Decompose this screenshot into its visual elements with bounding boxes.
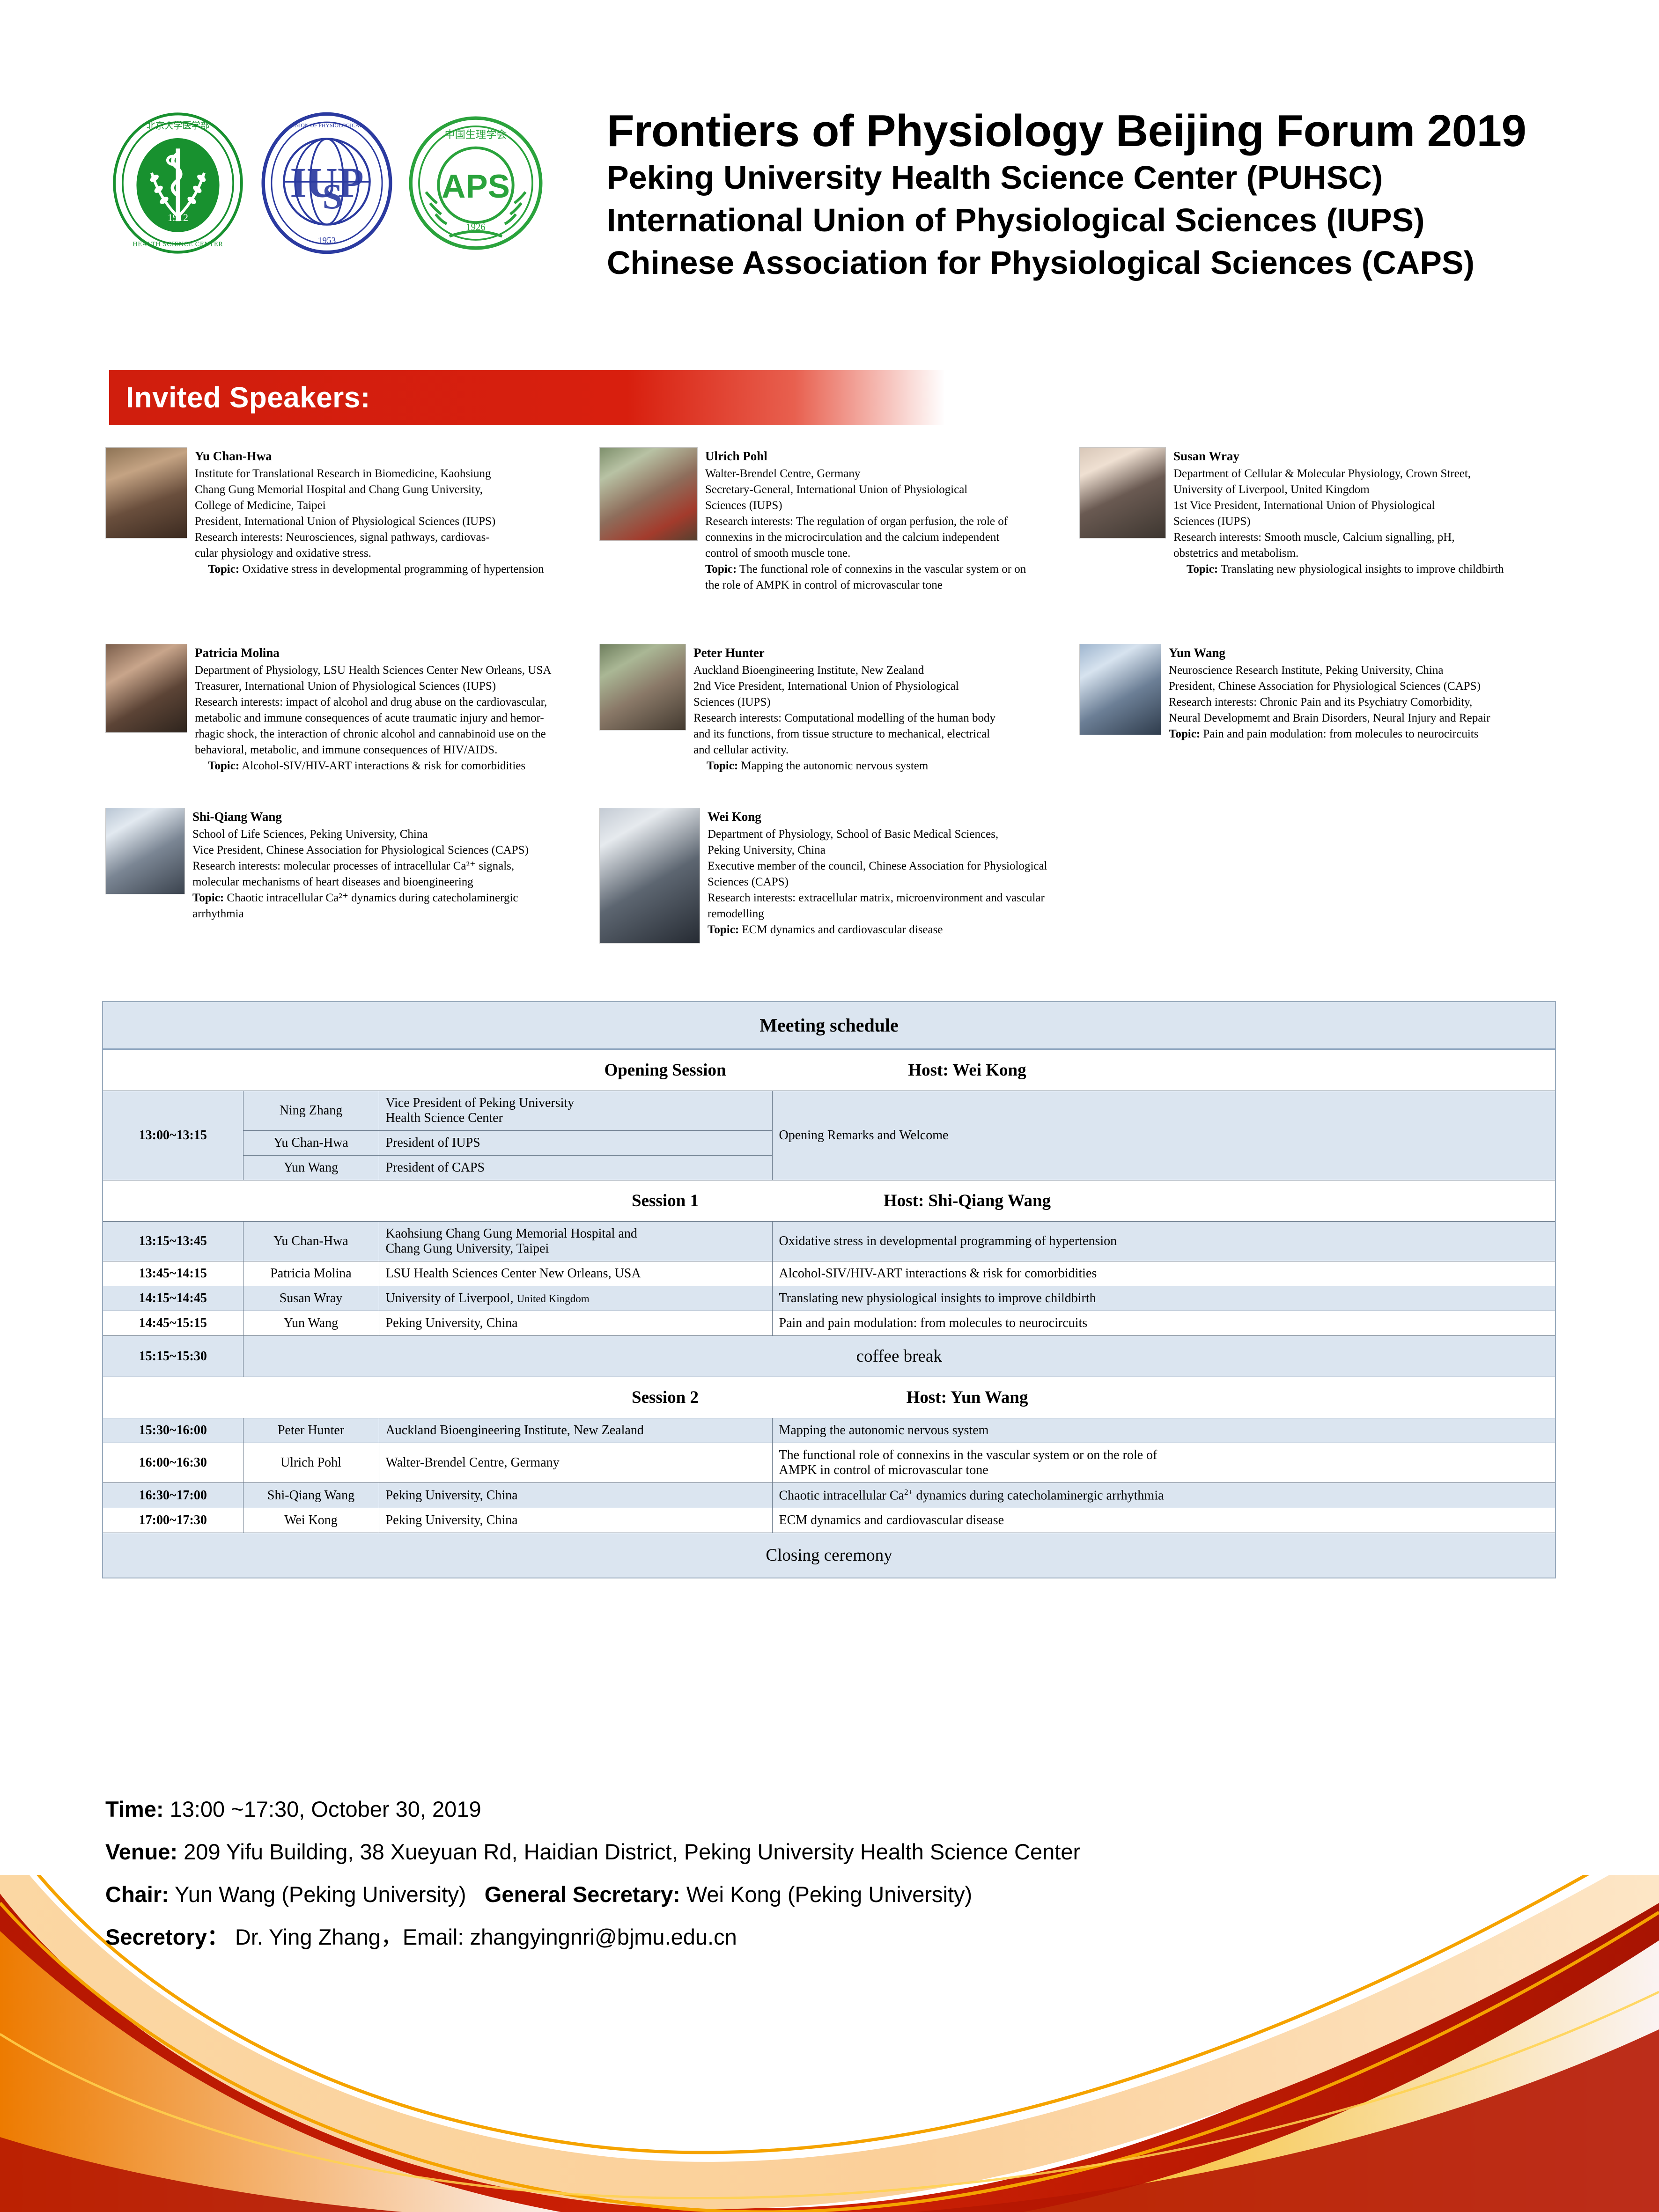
- table-row: 13:00~13:15 Ning Zhang Vice President of…: [103, 1091, 1556, 1131]
- table-row-closing: Closing ceremony: [103, 1533, 1556, 1578]
- speaker-grid: Yu Chan-Hwa Institute for Translational …: [105, 447, 1557, 962]
- cell-speaker: Yun Wang: [243, 1156, 379, 1180]
- cell-remark: Opening Remarks and Welcome: [772, 1091, 1556, 1180]
- speaker-interests-line: connexins in the microcirculation and th…: [705, 530, 1026, 546]
- speaker-role-line: Sciences (IUPS): [693, 694, 995, 710]
- speaker-card-susan-wray: Susan Wray Department of Cellular & Mole…: [1079, 447, 1557, 644]
- cell-topic: Chaotic intracellular Ca2+ dynamics duri…: [772, 1483, 1556, 1508]
- speaker-row: Shi-Qiang Wang School of Life Sciences, …: [105, 808, 1557, 962]
- schedule-title: Meeting schedule: [103, 1002, 1556, 1049]
- speaker-interests-line: Research interests: impact of alcohol an…: [195, 694, 551, 710]
- topic-text: The functional role of connexins in the …: [739, 563, 1026, 575]
- table-row-title: Meeting schedule: [103, 1002, 1556, 1049]
- topic-pre: Chaotic intracellular Ca: [779, 1488, 904, 1503]
- speaker-affiliation-line: Department of Physiology, LSU Health Sci…: [195, 663, 551, 678]
- caps-logo: APS 1926 中国生理学会: [406, 111, 546, 256]
- topic-label: Topic:: [208, 759, 239, 772]
- table-row-session-header: Session 1 Host: Shi-Qiang Wang: [103, 1180, 1556, 1222]
- topic-text: ECM dynamics and cardiovascular disease: [742, 923, 943, 936]
- general-secretary-label: General Secretary:: [485, 1882, 680, 1907]
- svg-text:中国生理学会: 中国生理学会: [445, 129, 507, 141]
- avatar: [105, 644, 187, 733]
- table-row: 16:30~17:00 Shi-Qiang Wang Peking Univer…: [103, 1483, 1556, 1508]
- speaker-role-line: President, International Union of Physio…: [195, 514, 544, 530]
- cell-time: 13:00~13:15: [103, 1091, 243, 1180]
- svg-text:HEALTH SCIENCE CENTER: HEALTH SCIENCE CENTER: [133, 241, 223, 248]
- iups-logo: IUP S 1953 UNION OF PHYSIOLOGICAL: [257, 111, 397, 256]
- speaker-interests-line: cular physiology and oxidative stress.: [195, 546, 544, 561]
- svg-text:1953: 1953: [318, 236, 336, 245]
- cell-topic: Mapping the autonomic nervous system: [772, 1418, 1556, 1443]
- svg-text:UNION OF PHYSIOLOGICAL: UNION OF PHYSIOLOGICAL: [291, 122, 362, 128]
- speaker-affiliation-line: University of Liverpool, United Kingdom: [1173, 482, 1504, 498]
- avatar: [105, 808, 185, 894]
- closing-ceremony-label: Closing ceremony: [103, 1533, 1556, 1578]
- table-row: 17:00~17:30 Wei Kong Peking University, …: [103, 1508, 1556, 1533]
- speaker-role-line: President, Chinese Association for Physi…: [1169, 678, 1490, 694]
- speaker-name: Yun Wang: [1169, 645, 1490, 662]
- coffee-break-label: coffee break: [243, 1336, 1556, 1377]
- topic-text: Chaotic intracellular Ca²⁺ dynamics duri…: [227, 892, 518, 904]
- role-line-1: Vice President of Peking University: [386, 1096, 766, 1111]
- session-host-opening: Host: Wei Kong: [804, 1060, 1131, 1080]
- topic-line-1: The functional role of connexins in the …: [779, 1448, 1549, 1463]
- speaker-interests-line: rhagic shock, the interaction of chronic…: [195, 726, 551, 742]
- topic-post: dynamics during catecholaminergic arrhyt…: [913, 1488, 1164, 1503]
- speaker-affiliation-line: School of Life Sciences, Peking Universi…: [192, 826, 529, 842]
- logo-group: 1912 HEALTH SCIENCE CENTER 北京大学医学部 IUP S…: [108, 111, 546, 256]
- topic-text: Mapping the autonomic nervous system: [741, 759, 928, 772]
- cell-time: 16:00~16:30: [103, 1443, 243, 1483]
- cell-time: 13:45~14:15: [103, 1261, 243, 1286]
- speaker-interests-line: control of smooth muscle tone.: [705, 546, 1026, 561]
- speaker-role-line: Executive member of the council, Chinese…: [708, 858, 1047, 874]
- speaker-card-ulrich-pohl: Ulrich Pohl Walter-Brendel Centre, Germa…: [599, 447, 1079, 644]
- role-line-2: Health Science Center: [386, 1111, 766, 1126]
- svg-text:S: S: [322, 177, 342, 217]
- secretory-label: Secretory：: [105, 1924, 229, 1949]
- chair-label: Chair:: [105, 1882, 169, 1907]
- topic-label: Topic:: [1169, 728, 1200, 740]
- cell-time: 15:30~16:00: [103, 1418, 243, 1443]
- cell-affiliation: Auckland Bioengineering Institute, New Z…: [379, 1418, 772, 1443]
- speaker-name: Wei Kong: [708, 809, 1047, 826]
- speaker-interests-line: Research interests: Smooth muscle, Calci…: [1173, 530, 1504, 546]
- svg-text:APS: APS: [442, 168, 510, 205]
- meeting-schedule-table: Meeting schedule Opening Session Host: W…: [102, 1001, 1556, 1578]
- avatar: [599, 644, 686, 730]
- cell-role: President of IUPS: [379, 1131, 772, 1156]
- cell-time: 17:00~17:30: [103, 1508, 243, 1533]
- speaker-row: Yu Chan-Hwa Institute for Translational …: [105, 447, 1557, 644]
- table-row: 15:30~16:00 Peter Hunter Auckland Bioeng…: [103, 1418, 1556, 1443]
- page-title: Frontiers of Physiology Beijing Forum 20…: [607, 106, 1526, 156]
- topic-label: Topic:: [708, 923, 739, 936]
- speaker-affiliation-line: Peking University, China: [708, 842, 1047, 858]
- topic-label: Topic:: [192, 892, 224, 904]
- speaker-affiliation-line: Neuroscience Research Institute, Peking …: [1169, 663, 1490, 678]
- footer-venue: Venue: 209 Yifu Building, 38 Xueyuan Rd,…: [105, 1841, 1557, 1863]
- topic-text-cont: arrhythmia: [192, 906, 529, 922]
- speaker-affiliation-line: College of Medicine, Taipei: [195, 498, 544, 514]
- topic-text: Pain and pain modulation: from molecules…: [1203, 728, 1478, 740]
- speaker-card-wei-kong: Wei Kong Department of Physiology, Schoo…: [599, 808, 1079, 962]
- avatar: [599, 447, 698, 541]
- table-row: 16:00~16:30 Ulrich Pohl Walter-Brendel C…: [103, 1443, 1556, 1483]
- speaker-name: Shi-Qiang Wang: [192, 809, 529, 826]
- session-label-opening: Opening Session: [527, 1060, 804, 1080]
- header-subtitle-caps: Chinese Association for Physiological Sc…: [607, 242, 1526, 284]
- speaker-interests-line: Research interests: Computational modell…: [693, 710, 995, 726]
- speaker-name: Ulrich Pohl: [705, 448, 1026, 465]
- avatar: [599, 808, 700, 944]
- cell-affiliation: Peking University, China: [379, 1508, 772, 1533]
- speaker-affiliation-line: Chang Gung Memorial Hospital and Chang G…: [195, 482, 544, 498]
- table-row: 13:15~13:45 Yu Chan-Hwa Kaohsiung Chang …: [103, 1222, 1556, 1261]
- puhsc-logo: 1912 HEALTH SCIENCE CENTER 北京大学医学部: [108, 111, 248, 256]
- invited-speakers-label: Invited Speakers:: [126, 381, 370, 414]
- table-row: 14:45~15:15 Yun Wang Peking University, …: [103, 1311, 1556, 1336]
- affil-line-1: Kaohsiung Chang Gung Memorial Hospital a…: [386, 1226, 766, 1241]
- cell-topic: ECM dynamics and cardiovascular disease: [772, 1508, 1556, 1533]
- speaker-interests-line: Research interests: The regulation of or…: [705, 514, 1026, 530]
- affil-sub: United Kingdom: [516, 1293, 589, 1305]
- session-host-2: Host: Yun Wang: [804, 1387, 1131, 1408]
- time-label: Time:: [105, 1797, 164, 1821]
- secretory-value: Dr. Ying Zhang，Email: zhangyingnri@bjmu.…: [229, 1924, 737, 1949]
- cell-affiliation: Walter-Brendel Centre, Germany: [379, 1443, 772, 1483]
- cell-affiliation: Peking University, China: [379, 1483, 772, 1508]
- table-row-session-header: Opening Session Host: Wei Kong: [103, 1049, 1556, 1091]
- cell-speaker: Shi-Qiang Wang: [243, 1483, 379, 1508]
- svg-text:1912: 1912: [168, 212, 188, 223]
- avatar: [105, 447, 187, 538]
- cell-speaker: Yu Chan-Hwa: [243, 1131, 379, 1156]
- invited-speakers-banner: Invited Speakers:: [109, 370, 945, 425]
- venue-label: Venue:: [105, 1839, 177, 1864]
- speaker-role-line: Treasurer, International Union of Physio…: [195, 678, 551, 694]
- footer-time: Time: 13:00 ~17:30, October 30, 2019: [105, 1798, 1557, 1820]
- avatar: [1079, 447, 1166, 538]
- speaker-affiliation-line: Institute for Translational Research in …: [195, 466, 544, 482]
- svg-text:北京大学医学部: 北京大学医学部: [147, 120, 209, 131]
- topic-text: Translating new physiological insights t…: [1221, 563, 1504, 575]
- speaker-interests-line: obstetrics and metabolism.: [1173, 546, 1504, 561]
- speaker-row: Patricia Molina Department of Physiology…: [105, 644, 1557, 808]
- footer-chair: Chair: Yun Wang (Peking University) Gene…: [105, 1883, 1557, 1905]
- table-row: 14:15~14:45 Susan Wray University of Liv…: [103, 1286, 1556, 1311]
- speaker-role-line: 2nd Vice President, International Union …: [693, 678, 995, 694]
- cell-topic: Translating new physiological insights t…: [772, 1286, 1556, 1311]
- header-subtitle-iups: International Union of Physiological Sci…: [607, 199, 1526, 242]
- cell-speaker: Peter Hunter: [243, 1418, 379, 1443]
- topic-label: Topic:: [1187, 563, 1218, 575]
- cell-speaker: Yun Wang: [243, 1311, 379, 1336]
- cell-affiliation: Kaohsiung Chang Gung Memorial Hospital a…: [379, 1222, 772, 1261]
- speaker-interests-line: molecular mechanisms of heart diseases a…: [192, 874, 529, 890]
- speaker-interests-line: Research interests: molecular processes …: [192, 858, 529, 874]
- cell-topic: The functional role of connexins in the …: [772, 1443, 1556, 1483]
- cell-affiliation: Peking University, China: [379, 1311, 772, 1336]
- cell-speaker: Ning Zhang: [243, 1091, 379, 1131]
- speaker-interests-line: metabolic and immune consequences of acu…: [195, 710, 551, 726]
- footer-info: Time: 13:00 ~17:30, October 30, 2019 Ven…: [105, 1798, 1557, 1969]
- speaker-affiliation-line: Walter-Brendel Centre, Germany: [705, 466, 1026, 482]
- speaker-role-line: Secretary-General, International Union o…: [705, 482, 1026, 498]
- cell-topic: Pain and pain modulation: from molecules…: [772, 1311, 1556, 1336]
- speaker-interests-line: Research interests: Neurosciences, signa…: [195, 530, 544, 546]
- cell-time: 16:30~17:00: [103, 1483, 243, 1508]
- topic-text: Alcohol-SIV/HIV-ART interactions & risk …: [242, 759, 525, 772]
- cell-topic: Alcohol-SIV/HIV-ART interactions & risk …: [772, 1261, 1556, 1286]
- chair-value: Yun Wang (Peking University): [169, 1882, 466, 1907]
- speaker-affiliation-line: Auckland Bioengineering Institute, New Z…: [693, 663, 995, 678]
- speaker-card-peter-hunter: Peter Hunter Auckland Bioengineering Ins…: [599, 644, 1079, 808]
- speaker-role-line: Sciences (CAPS): [708, 874, 1047, 890]
- speaker-card-yun-wang: Yun Wang Neuroscience Research Institute…: [1079, 644, 1557, 808]
- cell-affiliation: University of Liverpool, United Kingdom: [379, 1286, 772, 1311]
- topic-text: Oxidative stress in developmental progra…: [242, 563, 544, 575]
- cell-time: 14:45~15:15: [103, 1311, 243, 1336]
- speaker-card-patricia-molina: Patricia Molina Department of Physiology…: [105, 644, 599, 808]
- general-secretary-value: Wei Kong (Peking University): [680, 1882, 972, 1907]
- speaker-interests-line: remodelling: [708, 906, 1047, 922]
- speaker-role-line: Sciences (IUPS): [1173, 514, 1504, 530]
- speaker-card-yu-chan-hwa: Yu Chan-Hwa Institute for Translational …: [105, 447, 599, 644]
- table-row-session-header: Session 2 Host: Yun Wang: [103, 1377, 1556, 1418]
- cell-time: 14:15~14:45: [103, 1286, 243, 1311]
- speaker-name: Patricia Molina: [195, 645, 551, 662]
- footer-secretory: Secretory： Dr. Ying Zhang，Email: zhangyi…: [105, 1926, 1557, 1948]
- topic-line-2: AMPK in control of microvascular tone: [779, 1463, 1549, 1478]
- cell-topic: Oxidative stress in developmental progra…: [772, 1222, 1556, 1261]
- header-text-block: Frontiers of Physiology Beijing Forum 20…: [607, 106, 1526, 284]
- speaker-name: Susan Wray: [1173, 448, 1504, 465]
- cell-speaker: Susan Wray: [243, 1286, 379, 1311]
- speaker-role-line: Vice President, Chinese Association for …: [192, 842, 529, 858]
- cell-speaker: Ulrich Pohl: [243, 1443, 379, 1483]
- cell-role: President of CAPS: [379, 1156, 772, 1180]
- topic-label: Topic:: [705, 563, 737, 575]
- topic-label: Topic:: [707, 759, 738, 772]
- topic-text-cont: the role of AMPK in control of microvasc…: [705, 577, 1026, 593]
- speaker-interests-line: Neural Developmemt and Brain Disorders, …: [1169, 710, 1490, 726]
- avatar: [1079, 644, 1161, 735]
- speaker-affiliation-line: Department of Physiology, School of Basi…: [708, 826, 1047, 842]
- speaker-card-shi-qiang-wang: Shi-Qiang Wang School of Life Sciences, …: [105, 808, 599, 962]
- session-host-1: Host: Shi-Qiang Wang: [804, 1191, 1131, 1211]
- table-row: 13:45~14:15 Patricia Molina LSU Health S…: [103, 1261, 1556, 1286]
- table-row-coffee-break: 15:15~15:30 coffee break: [103, 1336, 1556, 1377]
- speaker-role-line: Sciences (IUPS): [705, 498, 1026, 514]
- cell-speaker: Yu Chan-Hwa: [243, 1222, 379, 1261]
- speaker-affiliation-line: Department of Cellular & Molecular Physi…: [1173, 466, 1504, 482]
- cell-time: 15:15~15:30: [103, 1336, 243, 1377]
- affil-main: University of Liverpool,: [386, 1291, 517, 1305]
- cell-speaker: Wei Kong: [243, 1508, 379, 1533]
- cell-speaker: Patricia Molina: [243, 1261, 379, 1286]
- cell-time: 13:15~13:45: [103, 1222, 243, 1261]
- cell-role: Vice President of Peking University Heal…: [379, 1091, 772, 1131]
- time-value: 13:00 ~17:30, October 30, 2019: [164, 1797, 481, 1821]
- affil-line-2: Chang Gung University, Taipei: [386, 1241, 766, 1256]
- venue-value: 209 Yifu Building, 38 Xueyuan Rd, Haidia…: [177, 1839, 1080, 1864]
- speaker-role-line: 1st Vice President, International Union …: [1173, 498, 1504, 514]
- session-label-1: Session 1: [527, 1191, 804, 1211]
- speaker-interests-line: behavioral, metabolic, and immune conseq…: [195, 742, 551, 758]
- speaker-interests-line: and its functions, from tissue structure…: [693, 726, 995, 742]
- topic-sup: 2+: [904, 1488, 913, 1497]
- speaker-interests-line: Research interests: extracellular matrix…: [708, 890, 1047, 906]
- session-label-2: Session 2: [527, 1387, 804, 1408]
- speaker-interests-line: Research interests: Chronic Pain and its…: [1169, 694, 1490, 710]
- cell-affiliation: LSU Health Sciences Center New Orleans, …: [379, 1261, 772, 1286]
- speaker-interests-line: and cellular activity.: [693, 742, 995, 758]
- speaker-name: Yu Chan-Hwa: [195, 448, 544, 465]
- speaker-name: Peter Hunter: [693, 645, 995, 662]
- topic-label: Topic:: [208, 563, 239, 575]
- header-subtitle-puhsc: Peking University Health Science Center …: [607, 156, 1526, 199]
- poster-header: 1912 HEALTH SCIENCE CENTER 北京大学医学部 IUP S…: [0, 89, 1659, 290]
